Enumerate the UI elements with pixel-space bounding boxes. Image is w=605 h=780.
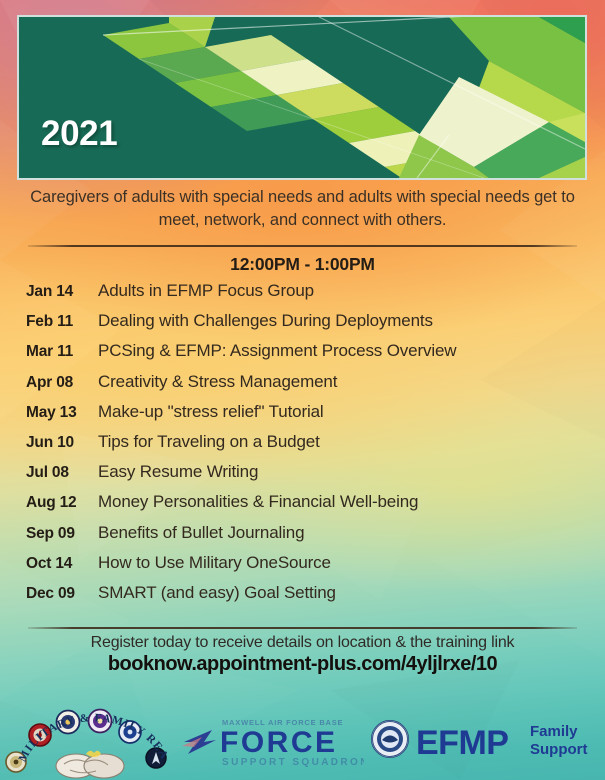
flyer-subtitle: Caregivers of adults with special needs …: [26, 186, 579, 233]
flyer-title: 2021 EFMP CONNECT GROUPS: [41, 35, 316, 180]
military-family-readiness-logo: MILITARY & FAMILY READINESS: [4, 690, 176, 780]
list-item: Aug 12 Money Personalities & Financial W…: [26, 492, 586, 522]
session-time: 12:00PM - 1:00PM: [26, 254, 579, 275]
session-date: Feb 11: [26, 313, 98, 331]
session-title: Creativity & Stress Management: [98, 372, 337, 392]
session-title: Adults in EFMP Focus Group: [98, 281, 314, 301]
efmp-connect-groups-flyer: 2021 EFMP CONNECT GROUPS Caregivers of a…: [0, 0, 605, 780]
session-title: How to Use Military OneSource: [98, 553, 331, 573]
list-item: Jan 14 Adults in EFMP Focus Group: [26, 281, 586, 311]
header-banner: 2021 EFMP CONNECT GROUPS: [17, 15, 587, 180]
list-item: Sep 09 Benefits of Bullet Journaling: [26, 523, 586, 553]
session-date: Dec 09: [26, 585, 98, 603]
efmp-sub-line1: Family: [530, 723, 578, 740]
session-title: Money Personalities & Financial Well-bei…: [98, 492, 418, 512]
force-bottom-label: SUPPORT SQUADRON: [222, 757, 364, 768]
session-date: Aug 12: [26, 494, 98, 512]
list-item: Mar 11 PCSing & EFMP: Assignment Process…: [26, 341, 586, 371]
list-item: Feb 11 Dealing with Challenges During De…: [26, 311, 586, 341]
session-date: Sep 09: [26, 525, 98, 543]
session-list: Jan 14 Adults in EFMP Focus Group Feb 11…: [26, 281, 586, 613]
dod-seal-icon: [372, 721, 408, 757]
session-title: Easy Resume Writing: [98, 462, 258, 482]
clasped-hands-icon: [56, 751, 124, 778]
force-main-label: FORCE: [220, 726, 338, 759]
efmp-family-support-logo: EFMP Family Support: [366, 710, 601, 768]
list-item: Dec 09 SMART (and easy) Goal Setting: [26, 583, 586, 613]
session-title: Benefits of Bullet Journaling: [98, 523, 304, 543]
divider-bottom: [28, 627, 577, 629]
list-item: May 13 Make-up "stress relief" Tutorial: [26, 402, 586, 432]
flyer-title-year: 2021: [41, 114, 316, 154]
list-item: Jun 10 Tips for Traveling on a Budget: [26, 432, 586, 462]
session-title: Tips for Traveling on a Budget: [98, 432, 320, 452]
list-item: Oct 14 How to Use Military OneSource: [26, 553, 586, 583]
list-item: Jul 08 Easy Resume Writing: [26, 462, 586, 492]
efmp-sub-line2: Support: [530, 741, 588, 758]
divider-top: [28, 245, 577, 247]
footer-logos: MILITARY & FAMILY READINESS MAXWELL AIR …: [0, 690, 605, 780]
session-date: Apr 08: [26, 374, 98, 392]
session-date: May 13: [26, 404, 98, 422]
registration-url[interactable]: booknow.appointment-plus.com/4yljlrxe/10: [26, 653, 579, 676]
session-date: Jan 14: [26, 283, 98, 301]
register-text: Register today to receive details on loc…: [26, 634, 579, 652]
list-item: Apr 08 Creativity & Stress Management: [26, 372, 586, 402]
force-support-squadron-logo: MAXWELL AIR FORCE BASE FORCE SUPPORT SQU…: [176, 712, 364, 770]
efmp-main-label: EFMP: [416, 724, 508, 762]
session-date: Mar 11: [26, 343, 98, 361]
session-title: SMART (and easy) Goal Setting: [98, 583, 336, 603]
force-swoosh-icon: [182, 730, 216, 754]
session-date: Oct 14: [26, 555, 98, 573]
session-title: PCSing & EFMP: Assignment Process Overvi…: [98, 341, 456, 361]
session-title: Make-up "stress relief" Tutorial: [98, 402, 324, 422]
session-date: Jun 10: [26, 434, 98, 452]
session-title: Dealing with Challenges During Deploymen…: [98, 311, 433, 331]
session-date: Jul 08: [26, 464, 98, 482]
